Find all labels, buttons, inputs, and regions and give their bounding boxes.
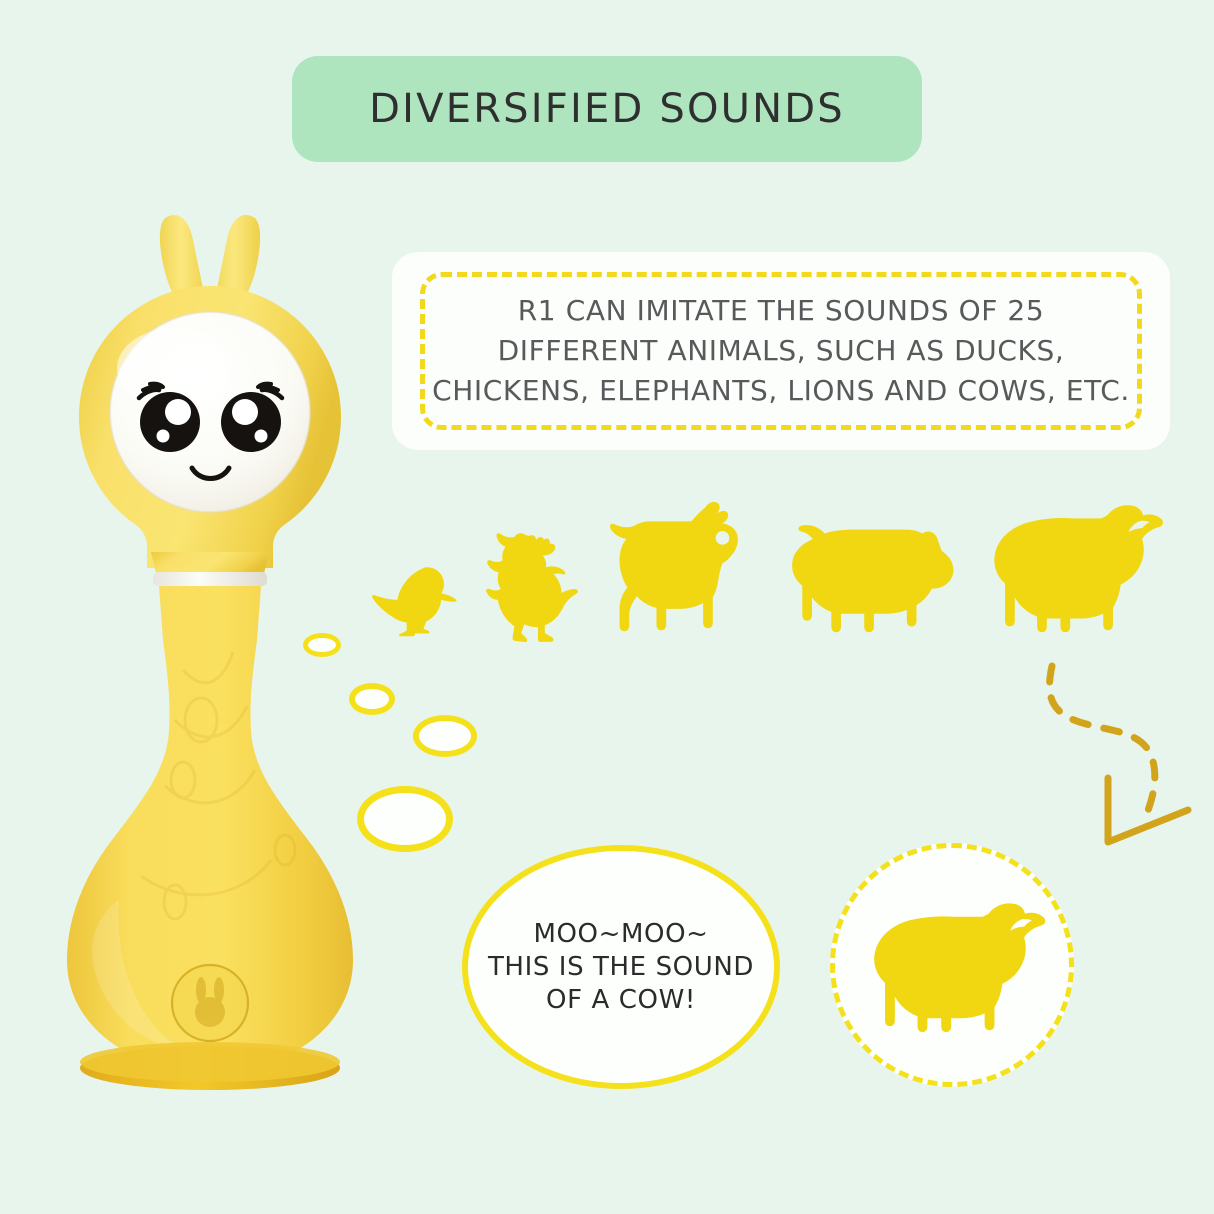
description-line-3: CHICKENS, ELEPHANTS, LIONS AND COWS, ETC… (432, 374, 1130, 408)
product-image-bunny-rattle (55, 200, 365, 1090)
title-banner: DIVERSIFIED SOUNDS (292, 56, 922, 162)
cow-highlight-circle (830, 843, 1074, 1087)
speech-line-1: MOO~MOO~ (533, 919, 708, 949)
pig-icon (786, 518, 956, 638)
cow-highlight-icon (863, 896, 1051, 1038)
description-card: R1 CAN IMITATE THE SOUNDS OF 25 DIFFEREN… (392, 252, 1170, 450)
sound-bubble-4 (357, 786, 453, 852)
goat-icon (604, 498, 740, 640)
bunny-button (172, 965, 248, 1041)
speech-bubble: MOO~MOO~ THIS IS THE SOUND OF A COW! (462, 845, 780, 1089)
description-line-1: R1 CAN IMITATE THE SOUNDS OF 25 (518, 294, 1045, 328)
silver-ring (153, 572, 267, 586)
description-line-2: DIFFERENT ANIMALS, SUCH AS DUCKS, (498, 334, 1065, 368)
sound-bubble-3 (413, 715, 477, 757)
speech-line-3: OF A COW! (546, 985, 696, 1015)
page-title: DIVERSIFIED SOUNDS (369, 86, 845, 132)
rooster-icon (484, 530, 586, 644)
infographic-canvas: DIVERSIFIED SOUNDS R1 CAN IMITATE THE SO… (0, 0, 1214, 1214)
description-text: R1 CAN IMITATE THE SOUNDS OF 25 DIFFEREN… (392, 252, 1170, 450)
cow-icon (986, 498, 1166, 638)
duck-icon (368, 556, 464, 640)
dashed-curved-arrow (1020, 648, 1206, 874)
speech-line-2: THIS IS THE SOUND (488, 952, 754, 982)
